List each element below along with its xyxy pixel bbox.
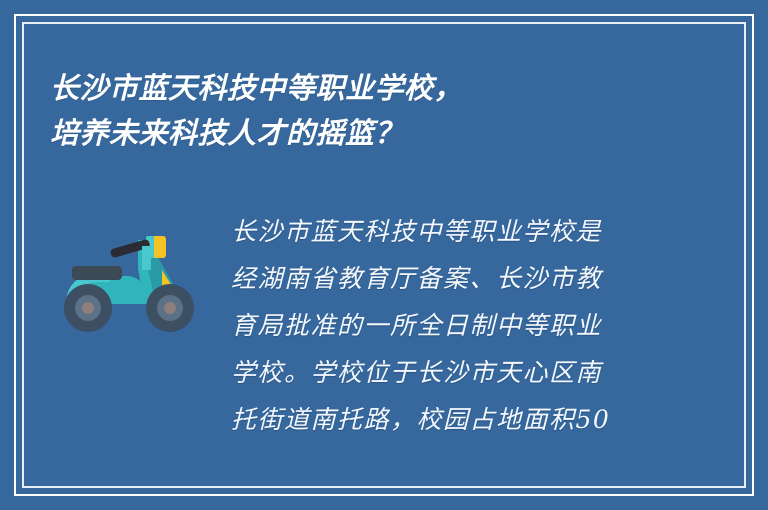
title-line-1: 长沙市蓝天科技中等职业学校，: [50, 66, 710, 111]
body-line-2: 经湖南省教育厅备案、长沙市教: [231, 255, 651, 302]
body-line-5: 托街道南托路，校园占地面积50: [231, 396, 651, 443]
poster-canvas: 长沙市蓝天科技中等职业学校， 培养未来科技人才的摇篮？: [0, 0, 768, 510]
body-line-3: 育局批准的一所全日制中等职业: [231, 302, 651, 349]
body-paragraph: 长沙市蓝天科技中等职业学校是 经湖南省教育厅备案、长沙市教 育局批准的一所全日制…: [231, 208, 651, 443]
body-line-4: 学校。学校位于长沙市天心区南: [231, 349, 651, 396]
page-title: 长沙市蓝天科技中等职业学校， 培养未来科技人才的摇篮？: [50, 66, 710, 156]
scooter-illustration: [52, 212, 212, 352]
body-line-1: 长沙市蓝天科技中等职业学校是: [231, 208, 651, 255]
scooter-icon: [52, 212, 212, 352]
title-line-2: 培养未来科技人才的摇篮？: [50, 111, 710, 156]
